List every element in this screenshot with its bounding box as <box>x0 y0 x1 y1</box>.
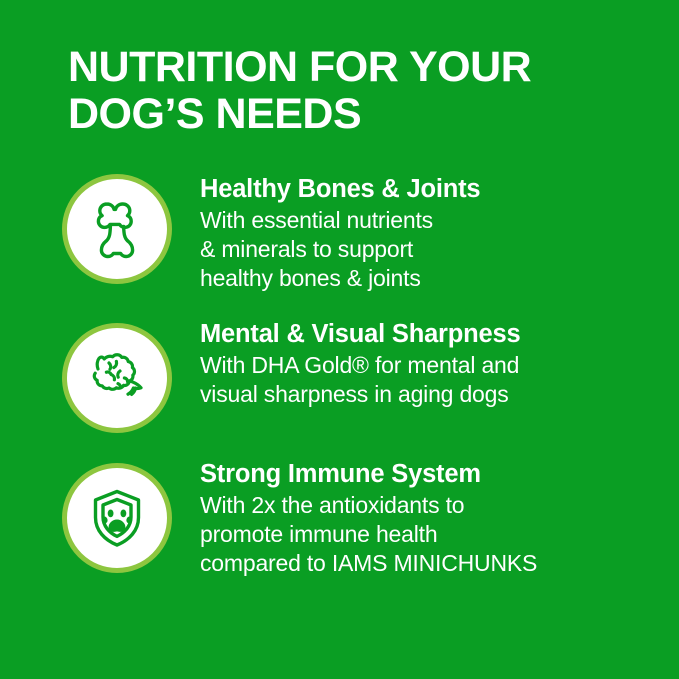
benefit-text: Healthy Bones & Joints With essential nu… <box>172 170 679 293</box>
dog-head-brain-icon <box>62 323 172 433</box>
benefit-title: Healthy Bones & Joints <box>200 174 679 204</box>
bone-joint-icon <box>62 174 172 284</box>
benefit-description: With essential nutrients & minerals to s… <box>200 206 679 293</box>
page-title: NUTRITION FOR YOUR DOG’S NEEDS <box>68 44 628 138</box>
benefit-description: With 2x the antioxidants to promote immu… <box>200 491 679 578</box>
benefit-description: With DHA Gold® for mental and visual sha… <box>200 351 679 409</box>
list-item: Strong Immune System With 2x the antioxi… <box>0 455 679 578</box>
benefit-text: Mental & Visual Sharpness With DHA Gold®… <box>172 315 679 409</box>
promo-panel: NUTRITION FOR YOUR DOG’S NEEDS Healthy B… <box>0 0 679 679</box>
benefit-title: Mental & Visual Sharpness <box>200 319 679 349</box>
list-item: Mental & Visual Sharpness With DHA Gold®… <box>0 315 679 433</box>
shield-paw-icon <box>62 463 172 573</box>
benefit-title: Strong Immune System <box>200 459 679 489</box>
benefits-list: Healthy Bones & Joints With essential nu… <box>0 170 679 594</box>
list-item: Healthy Bones & Joints With essential nu… <box>0 170 679 293</box>
benefit-text: Strong Immune System With 2x the antioxi… <box>172 455 679 578</box>
